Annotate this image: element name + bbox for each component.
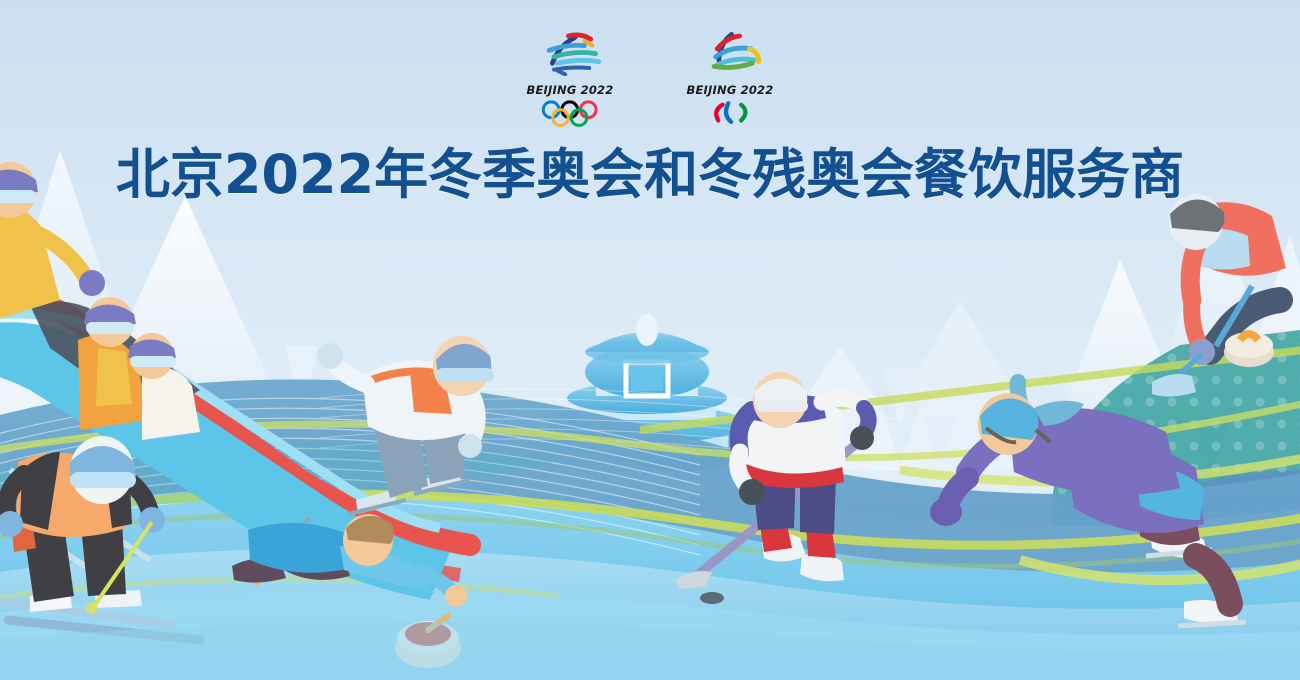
emblem-row: BEIJING 2022 BEIJING 2022 [0,28,1300,134]
page-title: 北京2022年冬季奥会和冬残奥会餐饮服务商 [0,144,1300,206]
beijing-2022-olympic-emblem: BEIJING 2022 [516,28,624,134]
curling-stone-right [1224,332,1274,367]
olympic-rings-icon [534,99,605,129]
paralympic-emblem-icon [682,28,778,76]
paralympic-agitos-icon [694,99,765,129]
olympic-wordmark: BEIJING 2022 [516,83,624,97]
paralympic-wordmark: BEIJING 2022 [676,83,784,97]
beijing-2022-paralympic-emblem: BEIJING 2022 [676,28,784,134]
beijing-2022-catering-service-banner: BEIJING 2022 BEIJING 2022 [0,0,1300,680]
hockey-puck [700,592,724,604]
olympic-emblem-icon [522,28,618,76]
